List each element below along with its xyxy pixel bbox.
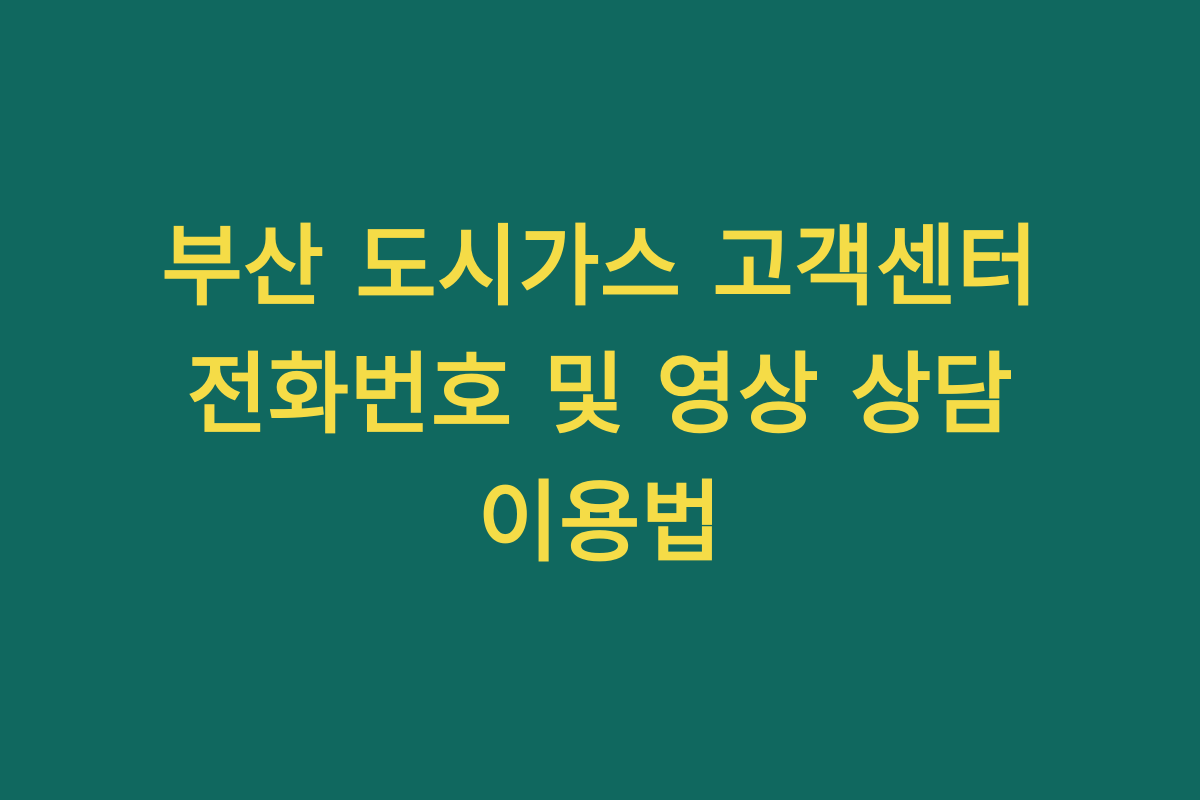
thumbnail-card: 부산 도시가스 고객센터 전화번호 및 영상 상담 이용법 [0,0,1200,800]
title-line-3: 이용법 [50,459,1150,587]
page-title: 부산 도시가스 고객센터 전화번호 및 영상 상담 이용법 [50,203,1150,587]
title-line-1: 부산 도시가스 고객센터 [50,203,1150,331]
title-line-2: 전화번호 및 영상 상담 [50,331,1150,459]
